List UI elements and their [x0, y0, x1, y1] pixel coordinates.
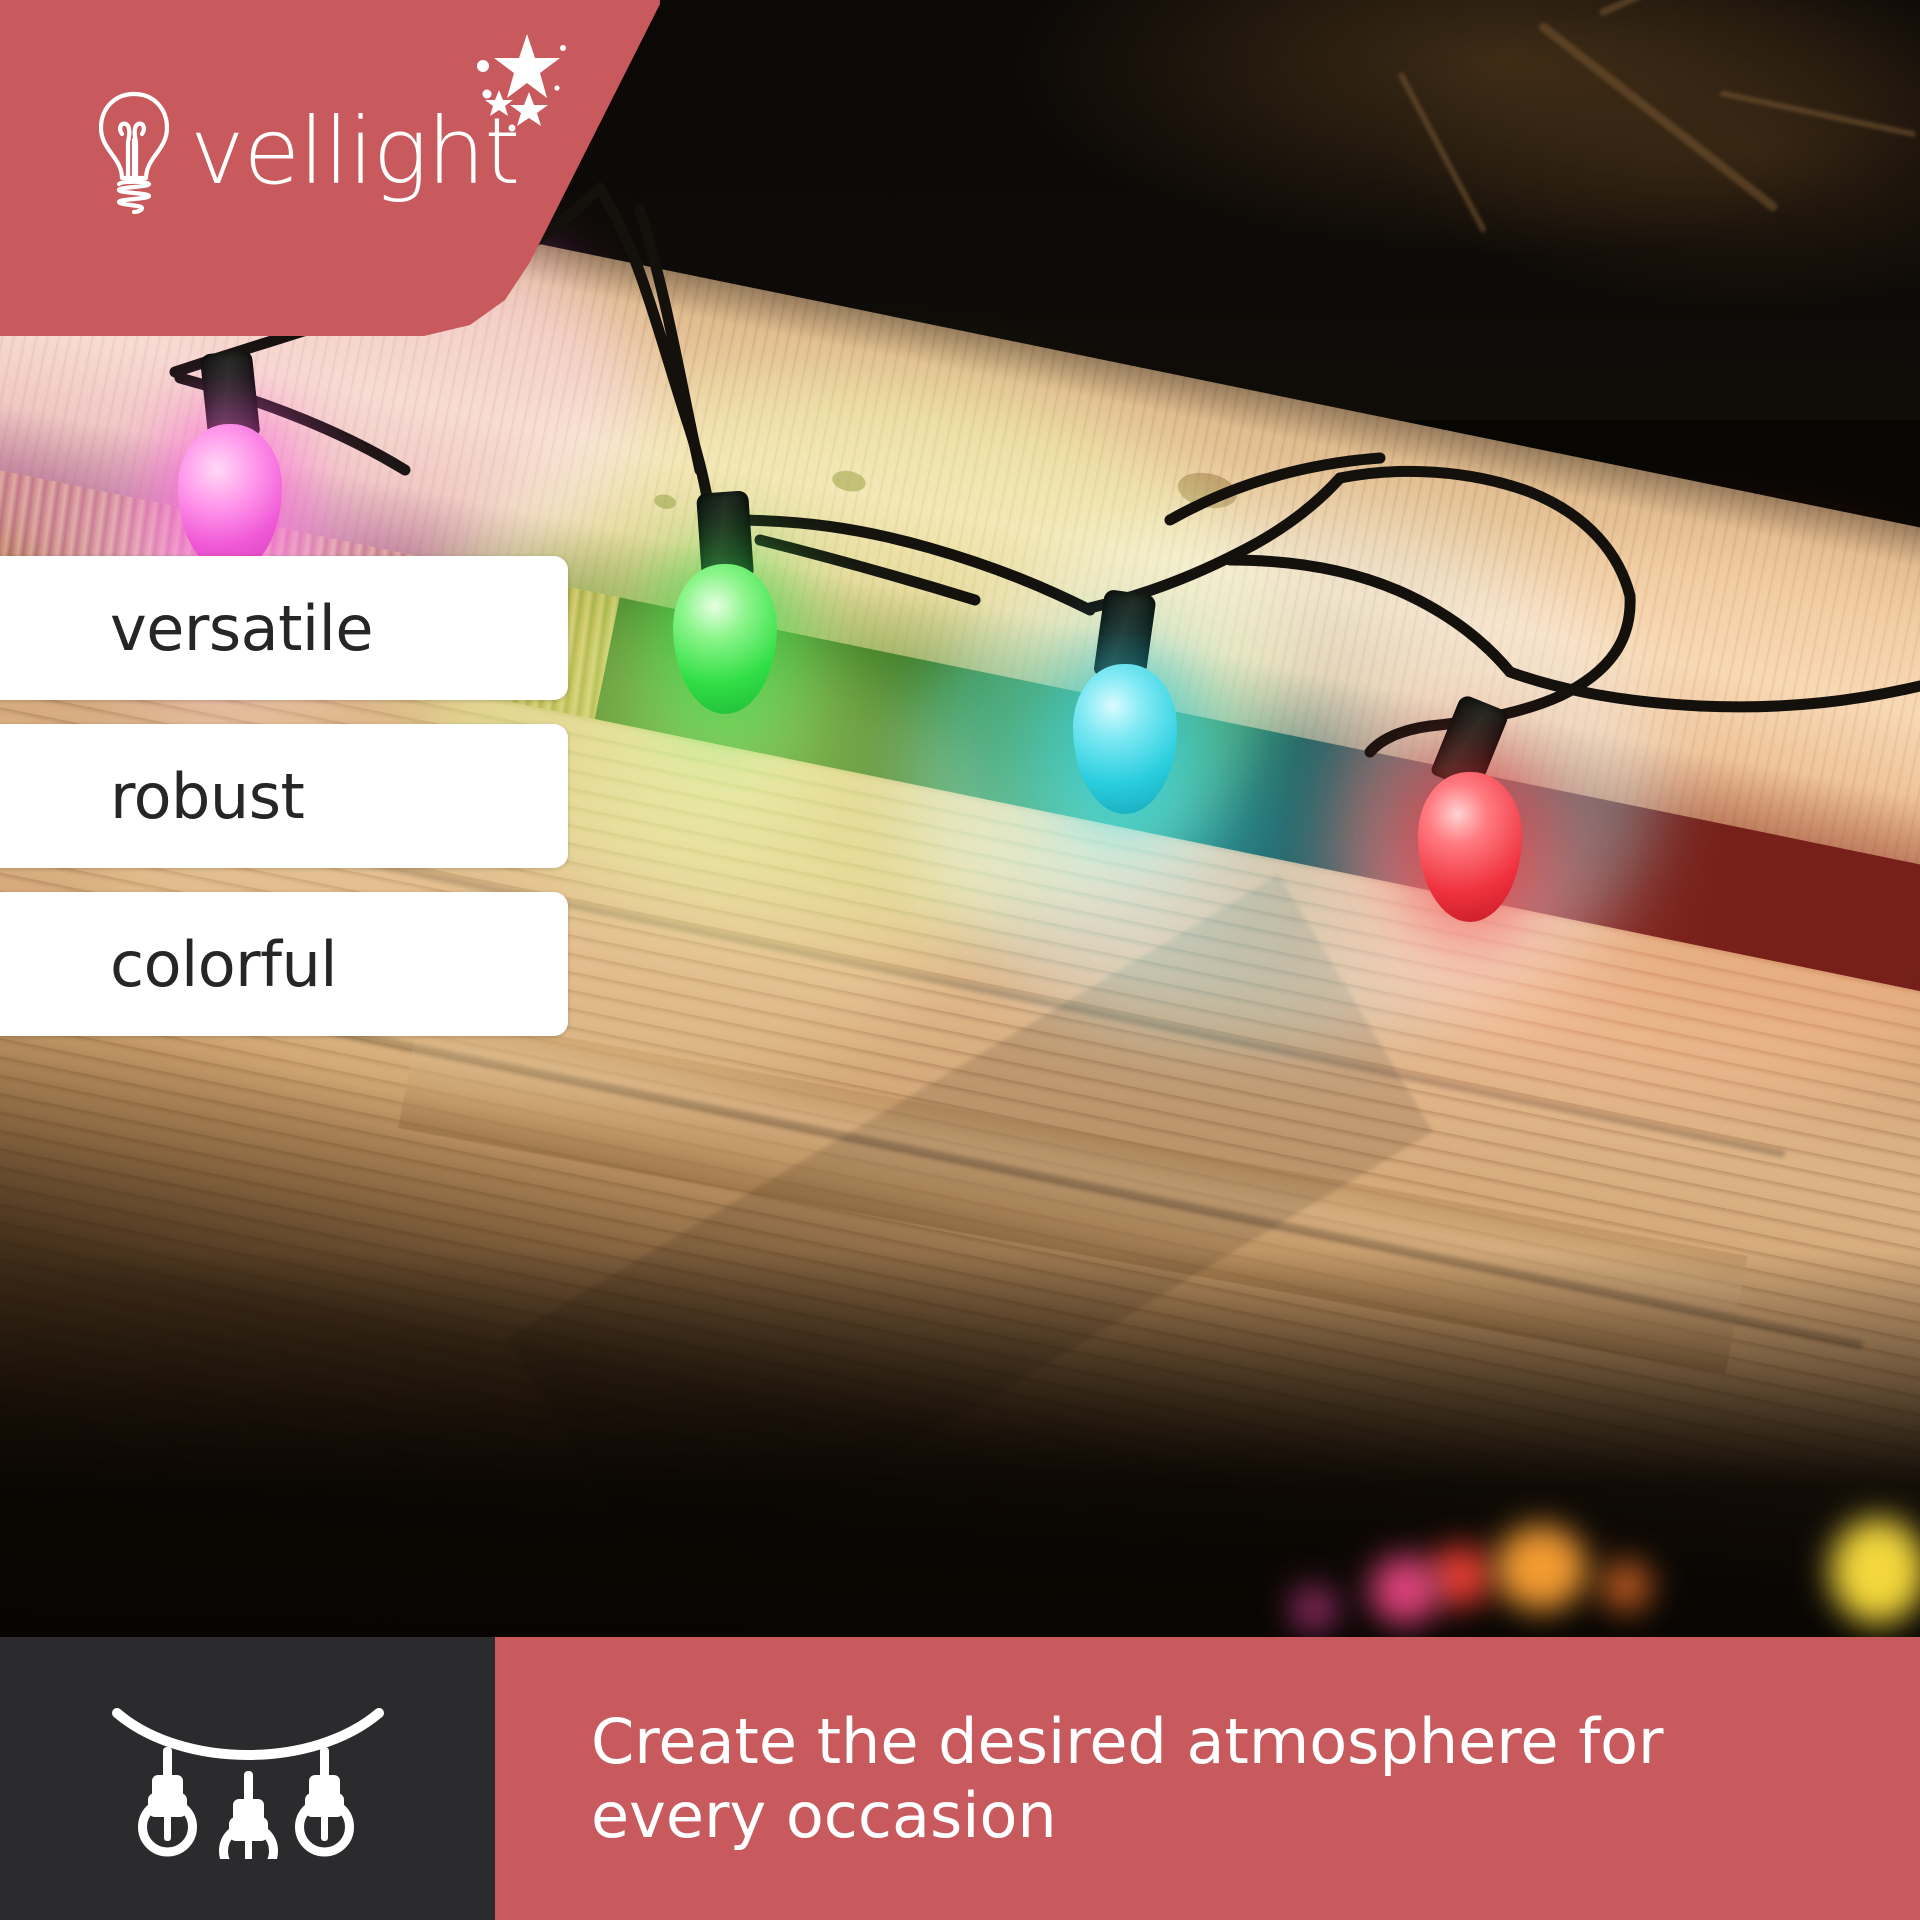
feature-card-robust[interactable]: robust — [0, 724, 568, 868]
footer-text-panel: Create the desired atmosphere for every … — [495, 1637, 1920, 1920]
footer-tagline: Create the desired atmosphere for every … — [591, 1705, 1664, 1851]
footer-tagline-line-2: every occasion — [591, 1779, 1664, 1852]
footer-bar: Create the desired atmosphere for every … — [0, 1637, 1920, 1920]
string-lights-icon — [103, 1699, 393, 1859]
bokeh-light — [1430, 1545, 1492, 1607]
feature-label: colorful — [110, 928, 337, 1001]
bokeh-light — [1290, 1585, 1338, 1633]
feature-label: robust — [110, 760, 304, 833]
footer-icon-panel — [0, 1637, 495, 1920]
bokeh-light — [1370, 1555, 1440, 1625]
bottom-shadow — [0, 1250, 1920, 1680]
lightbulb-outline-icon — [92, 88, 176, 216]
feature-label: versatile — [110, 592, 373, 665]
feature-card-versatile[interactable]: versatile — [0, 556, 568, 700]
bokeh-light — [1830, 1518, 1920, 1624]
brand-logo: vellight — [92, 88, 519, 216]
brand-name: vellight — [190, 106, 519, 198]
feature-card-colorful[interactable]: colorful — [0, 892, 568, 1036]
footer-tagline-line-1: Create the desired atmosphere for — [591, 1705, 1664, 1778]
bokeh-light — [1600, 1560, 1652, 1612]
product-banner: vellight versatile robust colorful — [0, 0, 1920, 1920]
bokeh-light — [1495, 1525, 1587, 1611]
